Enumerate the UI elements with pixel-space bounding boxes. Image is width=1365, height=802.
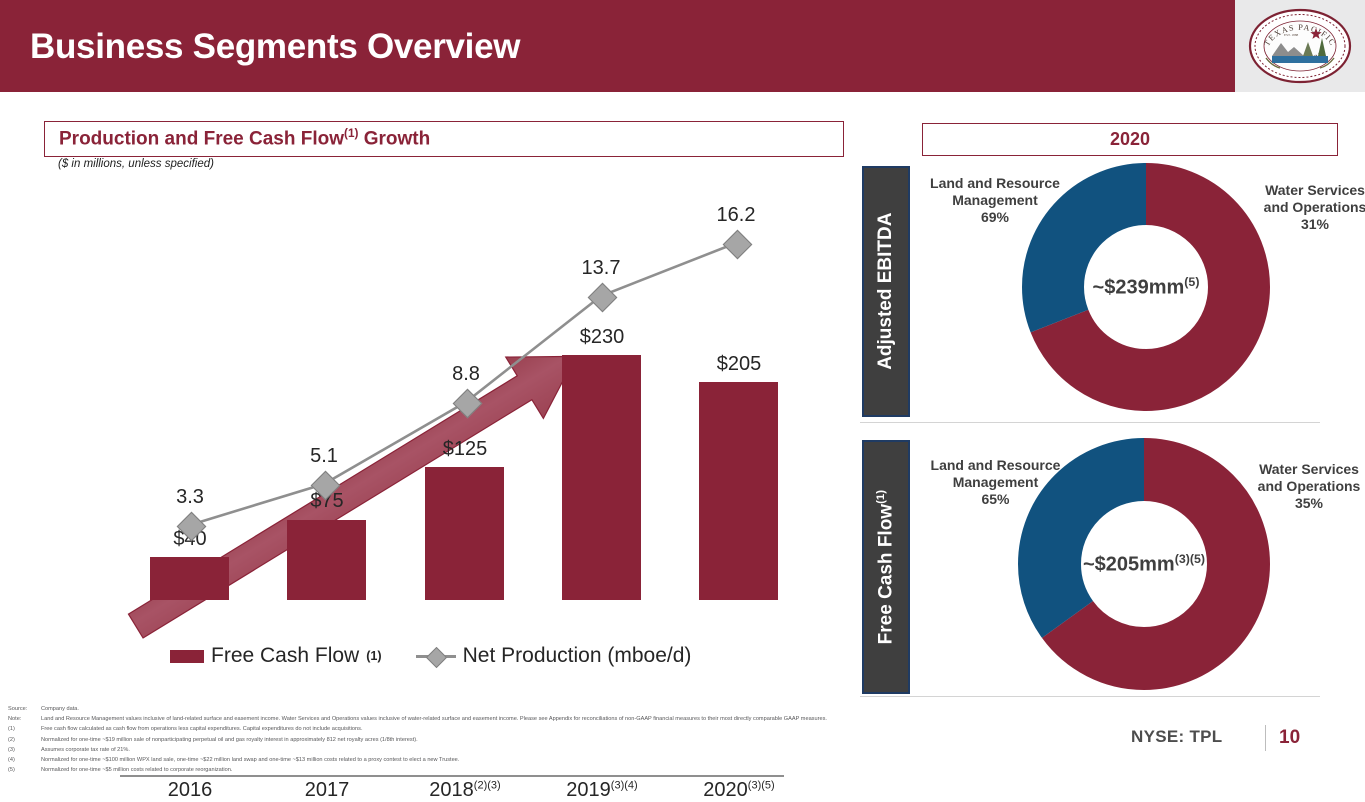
panel-divider-top (860, 422, 1320, 423)
bar-2016 (150, 557, 229, 600)
left-panel-title-text: Production and Free Cash Flow (59, 129, 344, 150)
donut2-label-water: Water Services and Operations 35% (1248, 461, 1365, 512)
left-panel-title: Production and Free Cash Flow(1) Growth (45, 127, 430, 150)
bar-2018 (425, 467, 504, 600)
footnote-key: (1) (8, 724, 41, 734)
footnote-text: Assumes corporate tax rate of 21%. (41, 745, 1088, 755)
footnote-text: Normalized for one-time ~$5 million cost… (41, 765, 1088, 775)
production-fcf-chart: ~50% Free Cash Flow CAGR Since 2016 $40 … (44, 175, 844, 600)
x-label-2020: 2020(3)(5) (664, 779, 814, 802)
x-label-2019-footnote: (3)(4) (611, 779, 638, 791)
legend-item-net-production: Net Production (mboe/d) (416, 644, 692, 668)
donut1-label-water: Water Services and Operations 31% (1263, 182, 1365, 233)
footnote-key: (5) (8, 765, 41, 775)
company-logo: TEXAS PACIFIC LAND CORP EST. 1888 (1235, 0, 1365, 92)
footnote-row: Note: Land and Resource Management value… (8, 714, 1088, 724)
x-label-2020-text: 2020 (703, 779, 748, 801)
footnote-text: Normalized for one-time ~$100 million WP… (41, 755, 1088, 765)
legend-label-free-cash-flow: Free Cash Flow (211, 644, 359, 668)
x-label-2019: 2019(3)(4) (527, 779, 677, 802)
footnote-row: (1) Free cash flow calculated as cash fl… (8, 724, 1088, 734)
side-tab-free-cash-flow-label: Free Cash Flow(1) (875, 490, 897, 644)
footnote-text: Company data. (41, 704, 1088, 714)
donut2-label-land: Land and Resource Management 65% (908, 457, 1083, 508)
footer-divider (1265, 725, 1266, 751)
left-panel-title-box: Production and Free Cash Flow(1) Growth (44, 121, 844, 157)
marker-2020 (723, 230, 753, 260)
footnote-row: (3) Assumes corporate tax rate of 21%. (8, 745, 1088, 755)
legend-label-net-production: Net Production (mboe/d) (463, 644, 692, 668)
left-panel-title-suffix: Growth (358, 129, 430, 150)
left-panel-title-footnote: (1) (344, 127, 358, 140)
side-tab-adjusted-ebitda: Adjusted EBITDA (862, 166, 910, 417)
footnote-key: Note: (8, 714, 41, 724)
footnote-text: Land and Resource Management values incl… (41, 714, 1088, 724)
bar-label-2020: $205 (684, 353, 794, 376)
x-label-2017-text: 2017 (305, 779, 350, 801)
footnote-text: Free cash flow calculated as cash flow f… (41, 724, 1088, 734)
x-label-2017: 2017 (252, 779, 402, 802)
bar-2019 (562, 355, 641, 600)
legend-item-free-cash-flow: Free Cash Flow(1) (170, 644, 382, 668)
bar-2017 (287, 520, 366, 600)
x-label-2016: 2016 (115, 779, 265, 802)
footnote-text: Normalized for one-time ~$19 million sal… (41, 735, 1088, 745)
line-label-2019: 13.7 (556, 257, 646, 280)
page-number: 10 (1279, 727, 1300, 749)
bar-2020 (699, 382, 778, 600)
x-label-2020-footnote: (3)(5) (748, 779, 775, 791)
x-label-2018-text: 2018 (429, 779, 474, 801)
footnote-row: (4) Normalized for one-time ~$100 millio… (8, 755, 1088, 765)
legend-label-free-cash-flow-footnote: (1) (366, 649, 381, 663)
marker-2019 (588, 283, 618, 313)
page-title: Business Segments Overview (30, 27, 520, 67)
footnote-key: (4) (8, 755, 41, 765)
x-label-2018-footnote: (2)(3) (474, 779, 501, 791)
bar-label-2018: $125 (410, 438, 520, 461)
footnote-row: Source: Company data. (8, 704, 1088, 714)
footnote-key: (3) (8, 745, 41, 755)
line-label-2018: 8.8 (421, 363, 511, 386)
texas-pacific-land-corp-seal-icon: TEXAS PACIFIC LAND CORP EST. 1888 (1248, 8, 1352, 84)
footnote-row: (5) Normalized for one-time ~$5 million … (8, 765, 1088, 775)
footnote-key: (2) (8, 735, 41, 745)
bar-label-2019: $230 (547, 326, 657, 349)
line-label-2020: 16.2 (691, 204, 781, 227)
panel-divider-bottom (860, 696, 1320, 697)
slide-header: Business Segments Overview (0, 0, 1235, 92)
legend-bar-swatch-icon (170, 650, 204, 663)
chart-legend: Free Cash Flow(1) Net Production (mboe/d… (170, 640, 730, 672)
x-label-2016-text: 2016 (168, 779, 213, 801)
units-note: ($ in millions, unless specified) (58, 158, 214, 170)
footnotes: Source: Company data. Note: Land and Res… (8, 704, 1088, 776)
donut1-label-land: Land and Resource Management 69% (910, 175, 1080, 226)
side-tab-free-cash-flow: Free Cash Flow(1) (862, 440, 910, 694)
x-label-2018: 2018(2)(3) (390, 779, 540, 802)
x-label-2019-text: 2019 (566, 779, 611, 801)
nyse-ticker: NYSE: TPL (1131, 727, 1223, 747)
side-tab-adjusted-ebitda-label: Adjusted EBITDA (875, 213, 897, 370)
footnote-row: (2) Normalized for one-time ~$19 million… (8, 735, 1088, 745)
svg-text:EST. 1888: EST. 1888 (1284, 33, 1299, 37)
year-header-label: 2020 (1110, 129, 1150, 150)
year-header-box: 2020 (922, 123, 1338, 156)
footnote-key: Source: (8, 704, 41, 714)
legend-diamond-line-icon (416, 648, 456, 664)
line-label-2017: 5.1 (279, 445, 369, 468)
line-label-2016: 3.3 (145, 486, 235, 509)
